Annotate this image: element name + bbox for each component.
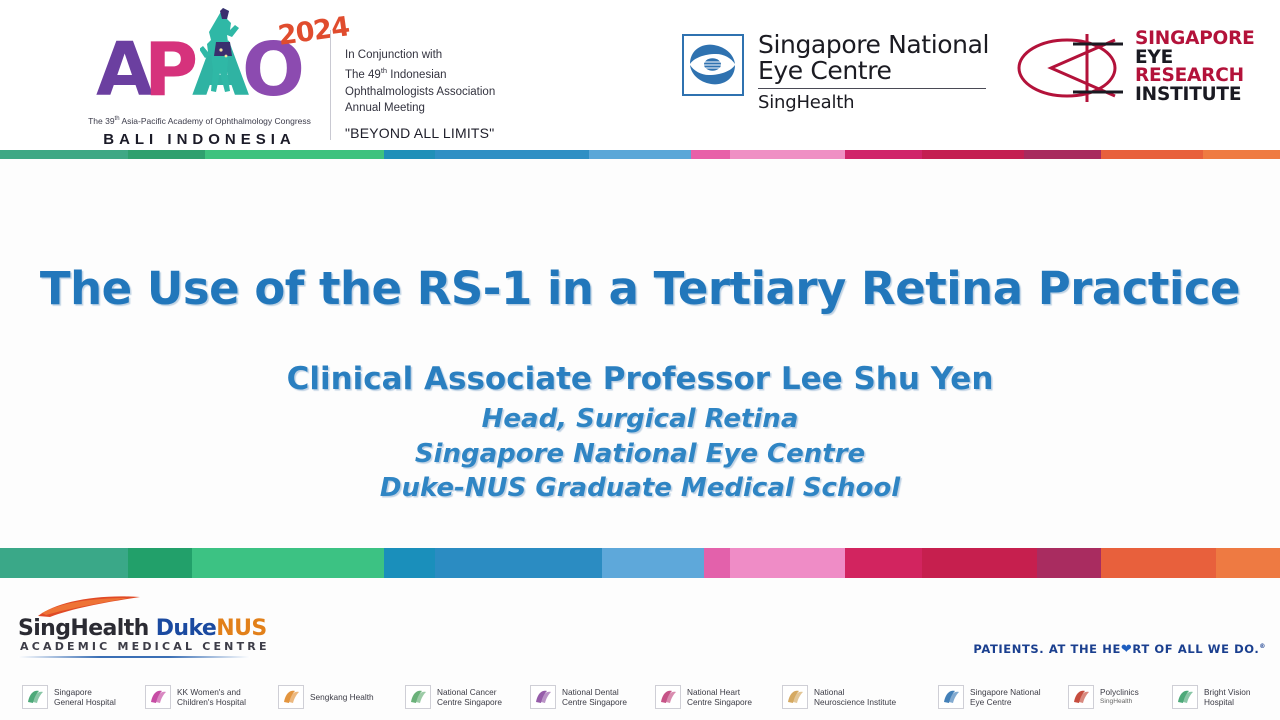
institution-name: National DentalCentre Singapore bbox=[562, 687, 627, 708]
institution-logo-item: Sengkang Health bbox=[278, 681, 396, 713]
institution-name: Sengkang Health bbox=[310, 692, 374, 703]
singhealth-underline bbox=[18, 656, 250, 658]
institution-name-line-1: Bright Vision bbox=[1204, 687, 1250, 698]
sengkang-icon bbox=[278, 685, 304, 709]
institution-name-line-2: Eye Centre bbox=[970, 697, 1041, 708]
color-bar-segment bbox=[128, 150, 205, 159]
institution-name-line-1: National Cancer bbox=[437, 687, 502, 698]
institution-name-line-1: National bbox=[814, 687, 896, 698]
slide-header: APAO 2024 The 39th Asia-Pacific Academy … bbox=[0, 0, 1280, 150]
color-bar-segment bbox=[691, 150, 729, 159]
ncc-icon bbox=[405, 685, 431, 709]
balinese-dancer-icon bbox=[200, 4, 246, 100]
institution-name-line-2: Centre Singapore bbox=[562, 697, 627, 708]
snec-line-2: Eye Centre bbox=[758, 58, 989, 84]
nni-wave-icon bbox=[782, 685, 808, 709]
snec-logo: Singapore National Eye Centre SingHealth bbox=[682, 32, 997, 110]
institution-logo-item: NationalNeuroscience Institute bbox=[782, 681, 916, 713]
affiliation-line-1: Head, Surgical Retina bbox=[0, 404, 1280, 434]
apao-location: BALI INDONESIA bbox=[62, 131, 337, 148]
color-bar-segment bbox=[205, 150, 384, 159]
institution-logo-item: National DentalCentre Singapore bbox=[530, 681, 648, 713]
institution-logo-strip: SingaporeGeneral HospitalKK Women's andC… bbox=[0, 681, 1280, 719]
institution-logo-item: KK Women's andChildren's Hospital bbox=[145, 681, 271, 713]
color-bar-segment bbox=[384, 150, 435, 159]
seri-line-3: RESEARCH bbox=[1135, 67, 1255, 86]
institution-logo-item: Bright VisionHospital bbox=[1172, 681, 1274, 713]
singhealth-tagline: PATIENTS. AT THE HE❤RT OF ALL WE DO.® bbox=[973, 642, 1266, 657]
apao-logo: APAO 2024 The 39th Asia-Pacific Academy … bbox=[62, 10, 337, 145]
top-color-bar bbox=[0, 150, 1280, 159]
color-bar-segment bbox=[730, 150, 845, 159]
color-bar-segment bbox=[128, 548, 192, 578]
tagline-post: RT OF ALL WE DO. bbox=[1132, 642, 1259, 656]
kkh-cross-icon bbox=[145, 685, 171, 709]
heart-icon: ❤ bbox=[1121, 642, 1133, 657]
institution-name: National HeartCentre Singapore bbox=[687, 687, 752, 708]
institution-name: National CancerCentre Singapore bbox=[437, 687, 502, 708]
color-bar-segment bbox=[730, 548, 845, 578]
snec-rule bbox=[758, 88, 986, 89]
color-bar-segment bbox=[1203, 150, 1280, 159]
snec-eye-icon bbox=[938, 685, 964, 709]
nhc-heart-icon bbox=[655, 685, 681, 709]
conjunction-line-2: The 49th Indonesian bbox=[345, 69, 447, 81]
color-bar-segment bbox=[1101, 548, 1216, 578]
conjunction-line-1: In Conjunction with bbox=[345, 49, 442, 61]
presenter-name: Clinical Associate Professor Lee Shu Yen bbox=[0, 361, 1280, 397]
institution-name: SingaporeGeneral Hospital bbox=[54, 687, 116, 708]
color-bar-segment bbox=[384, 548, 435, 578]
institution-name-line-1: National Heart bbox=[687, 687, 752, 698]
snec-eye-icon bbox=[682, 34, 744, 96]
presentation-slide: APAO 2024 The 39th Asia-Pacific Academy … bbox=[0, 0, 1280, 720]
institution-logo-item: SingaporeGeneral Hospital bbox=[22, 681, 140, 713]
color-bar-segment bbox=[1037, 548, 1101, 578]
institution-name: Singapore NationalEye Centre bbox=[970, 687, 1041, 708]
apao-congress-line: The 39th Asia-Pacific Academy of Ophthal… bbox=[62, 116, 337, 126]
institution-name-line-2: Neuroscience Institute bbox=[814, 697, 896, 708]
bvh-icon bbox=[1172, 685, 1198, 709]
institution-name-line-1: Polyclinics bbox=[1100, 687, 1139, 698]
conjunction-line-4: Annual Meeting bbox=[345, 102, 425, 114]
tagline-registered: ® bbox=[1259, 643, 1266, 650]
color-bar-segment bbox=[922, 548, 1037, 578]
snec-text-block: Singapore National Eye Centre SingHealth bbox=[758, 32, 989, 113]
color-bar-segment bbox=[1024, 150, 1101, 159]
snec-line-1: Singapore National bbox=[758, 32, 989, 58]
institution-logo-item: National HeartCentre Singapore bbox=[655, 681, 773, 713]
seri-logo: SINGAPORE EYE RESEARCH INSTITUTE bbox=[1015, 28, 1265, 110]
sgh-icon bbox=[22, 685, 48, 709]
affiliation-line-2: Singapore National Eye Centre bbox=[0, 439, 1280, 469]
singhealth-dukenus-logo: SingHealth DukeNUS ACADEMIC MEDICAL CENT… bbox=[18, 596, 253, 658]
institution-name-line-1: Singapore bbox=[54, 687, 116, 698]
color-bar-segment bbox=[922, 150, 1024, 159]
tagline-pre: PATIENTS. AT THE HE bbox=[973, 642, 1121, 656]
singhealth-swoosh-icon bbox=[36, 596, 144, 618]
institution-name-line-2: Children's Hospital bbox=[177, 697, 246, 708]
affiliation-line-3: Duke-NUS Graduate Medical School bbox=[0, 473, 1280, 503]
color-bar-segment bbox=[192, 548, 384, 578]
institution-name-line-1: KK Women's and bbox=[177, 687, 246, 698]
institution-name: Bright VisionHospital bbox=[1204, 687, 1250, 708]
apao-tagline: "BEYOND ALL LIMITS" bbox=[345, 125, 494, 141]
bottom-color-bar bbox=[0, 548, 1280, 578]
seri-line-4: INSTITUTE bbox=[1135, 86, 1255, 105]
apao-conjunction-text: In Conjunction with The 49th Indonesian … bbox=[345, 47, 545, 117]
institution-name: KK Women's andChildren's Hospital bbox=[177, 687, 246, 708]
singhealth-text: SingHealth bbox=[18, 616, 149, 641]
institution-name: PolyclinicsSingHealth bbox=[1100, 687, 1139, 708]
institution-name-line-2: General Hospital bbox=[54, 697, 116, 708]
color-bar-segment bbox=[704, 548, 730, 578]
institution-name: NationalNeuroscience Institute bbox=[814, 687, 896, 708]
polyclinics-icon bbox=[1068, 685, 1094, 709]
snec-line-3: SingHealth bbox=[758, 92, 989, 113]
conjunction-line-3: Ophthalmologists Association bbox=[345, 86, 495, 98]
seri-text-block: SINGAPORE EYE RESEARCH INSTITUTE bbox=[1135, 30, 1255, 104]
institution-name-line-2: Hospital bbox=[1204, 697, 1250, 708]
institution-logo-item: PolyclinicsSingHealth bbox=[1068, 681, 1166, 713]
slide-body: The Use of the RS-1 in a Tertiary Retina… bbox=[0, 159, 1280, 548]
institution-logo-item: Singapore NationalEye Centre bbox=[938, 681, 1066, 713]
institution-name-line-2: Centre Singapore bbox=[687, 697, 752, 708]
duke-text: Duke bbox=[156, 616, 217, 641]
singhealth-wordmark: SingHealth DukeNUS bbox=[18, 616, 267, 641]
ndc-icon bbox=[530, 685, 556, 709]
seri-line-1: SINGAPORE bbox=[1135, 30, 1255, 49]
color-bar-segment bbox=[845, 548, 922, 578]
color-bar-segment bbox=[435, 548, 601, 578]
apao-logo-mark: APAO 2024 bbox=[82, 12, 332, 112]
color-bar-segment bbox=[602, 548, 704, 578]
apao-year: 2024 bbox=[276, 11, 351, 52]
color-bar-segment bbox=[589, 150, 691, 159]
institution-logo-item: National CancerCentre Singapore bbox=[405, 681, 523, 713]
color-bar-segment bbox=[1216, 548, 1280, 578]
color-bar-segment bbox=[0, 548, 128, 578]
institution-name-line-1: Sengkang Health bbox=[310, 692, 374, 703]
color-bar-segment bbox=[0, 150, 128, 159]
slide-footer: SingHealth DukeNUS ACADEMIC MEDICAL CENT… bbox=[0, 578, 1280, 720]
institution-name-line-2: Centre Singapore bbox=[437, 697, 502, 708]
nus-text: NUS bbox=[216, 616, 266, 641]
singhealth-subtitle: ACADEMIC MEDICAL CENTRE bbox=[20, 640, 270, 653]
page-title: The Use of the RS-1 in a Tertiary Retina… bbox=[0, 262, 1280, 315]
institution-name-line-1: National Dental bbox=[562, 687, 627, 698]
color-bar-segment bbox=[845, 150, 922, 159]
seri-eye-mark-icon bbox=[1015, 32, 1130, 104]
header-divider bbox=[330, 30, 331, 140]
color-bar-segment bbox=[1101, 150, 1203, 159]
institution-name-line-1: Singapore National bbox=[970, 687, 1041, 698]
institution-name-line-2: SingHealth bbox=[1100, 697, 1139, 708]
color-bar-segment bbox=[435, 150, 589, 159]
